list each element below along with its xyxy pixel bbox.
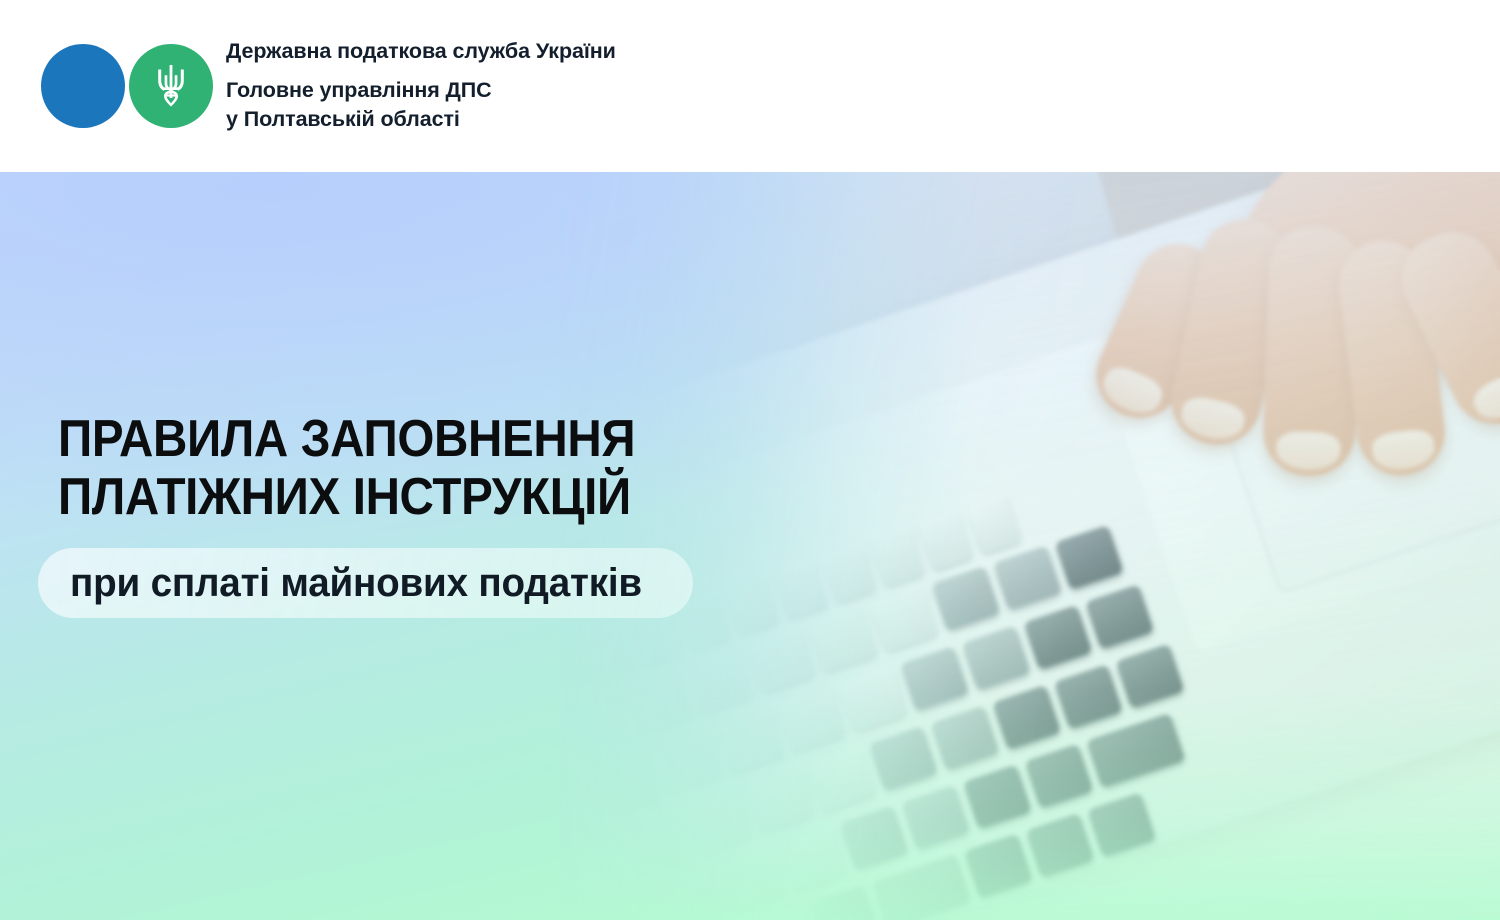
org-name-line-2: Головне управління ДПС — [226, 76, 616, 105]
page-title: ПРАВИЛА ЗАПОВНЕННЯ ПЛАТІЖНИХ ІНСТРУКЦІЙ — [58, 411, 635, 527]
subtitle-text: при сплаті майнових податків — [70, 563, 642, 603]
organization-name: Державна податкова служба України Головн… — [226, 41, 616, 134]
hand-on-trackpad — [1090, 172, 1500, 482]
site-header: Державна податкова служба України Головн… — [0, 0, 1500, 172]
org-name-line-1: Державна податкова служба України — [226, 41, 616, 63]
hero-copy: ПРАВИЛА ЗАПОВНЕННЯ ПЛАТІЖНИХ ІНСТРУКЦІЙ … — [0, 172, 900, 920]
logo-blue-circle — [41, 44, 125, 128]
headline-line-1: ПРАВИЛА ЗАПОВНЕННЯ — [58, 411, 635, 469]
org-name-line-3: у Полтавській області — [226, 105, 616, 134]
fingernail — [1468, 364, 1500, 428]
fingernail — [1370, 428, 1436, 473]
ukrainian-trident-emblem-icon — [129, 44, 213, 128]
headline-line-2: ПЛАТІЖНИХ ІНСТРУКЦІЙ — [58, 469, 635, 527]
hero-section: ПРАВИЛА ЗАПОВНЕННЯ ПЛАТІЖНИХ ІНСТРУКЦІЙ … — [0, 172, 1500, 920]
fingernail — [1097, 362, 1167, 421]
subtitle-badge: при сплаті майнових податків — [38, 548, 693, 618]
fingernail — [1276, 431, 1342, 471]
fingernail — [1178, 394, 1248, 444]
dps-logo[interactable] — [41, 44, 213, 128]
banner-page: Державна податкова служба України Головн… — [0, 0, 1500, 920]
